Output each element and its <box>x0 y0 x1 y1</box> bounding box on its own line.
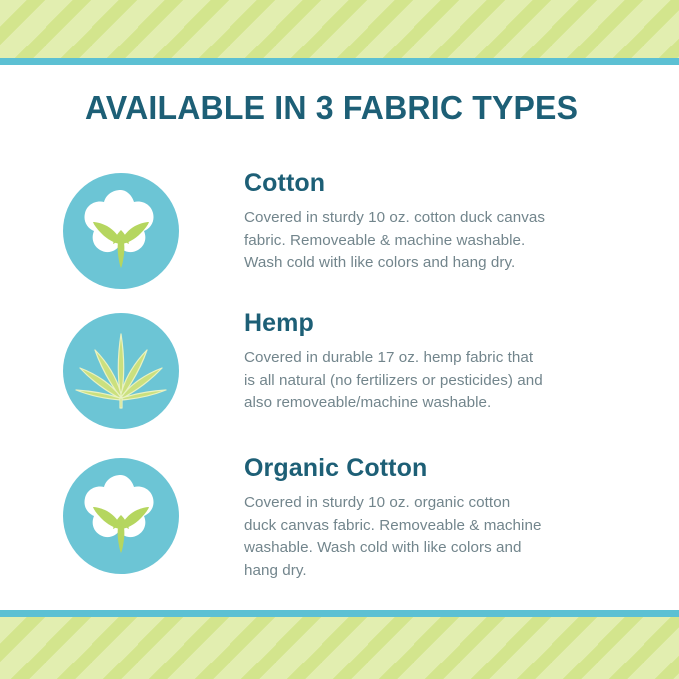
fabric-row-hemp: Hemp Covered in durable 17 oz. hemp fabr… <box>0 308 679 438</box>
fabric-description: Covered in durable 17 oz. hemp fabric th… <box>244 347 624 415</box>
fabric-heading: Cotton <box>244 168 624 198</box>
fabric-description: Covered in sturdy 10 oz. organic cotton … <box>244 492 624 582</box>
decorative-band-top <box>0 0 679 65</box>
fabric-text-cotton: Cotton Covered in sturdy 10 oz. cotton d… <box>244 168 624 275</box>
organic-cotton-boll-icon <box>62 457 180 575</box>
diagonal-dash-pattern-top <box>0 0 679 58</box>
page-title: AVAILABLE IN 3 FABRIC TYPES <box>85 88 589 128</box>
fabric-text-hemp: Hemp Covered in durable 17 oz. hemp fabr… <box>244 308 624 415</box>
fabric-text-organic-cotton: Organic Cotton Covered in sturdy 10 oz. … <box>244 453 624 582</box>
teal-divider-stripe-top <box>0 58 679 65</box>
fabric-row-organic-cotton: Organic Cotton Covered in sturdy 10 oz. … <box>0 453 679 583</box>
fabric-heading: Organic Cotton <box>244 453 624 483</box>
decorative-band-bottom <box>0 610 679 679</box>
infographic-page: AVAILABLE IN 3 FABRIC TYPES <box>0 0 679 679</box>
diagonal-dash-pattern-bottom <box>0 617 679 679</box>
hemp-leaf-icon <box>62 312 180 430</box>
fabric-heading: Hemp <box>244 308 624 338</box>
teal-divider-stripe-bottom <box>0 610 679 617</box>
fabric-row-cotton: Cotton Covered in sturdy 10 oz. cotton d… <box>0 168 679 298</box>
fabric-description: Covered in sturdy 10 oz. cotton duck can… <box>244 207 624 275</box>
cotton-boll-icon <box>62 172 180 290</box>
